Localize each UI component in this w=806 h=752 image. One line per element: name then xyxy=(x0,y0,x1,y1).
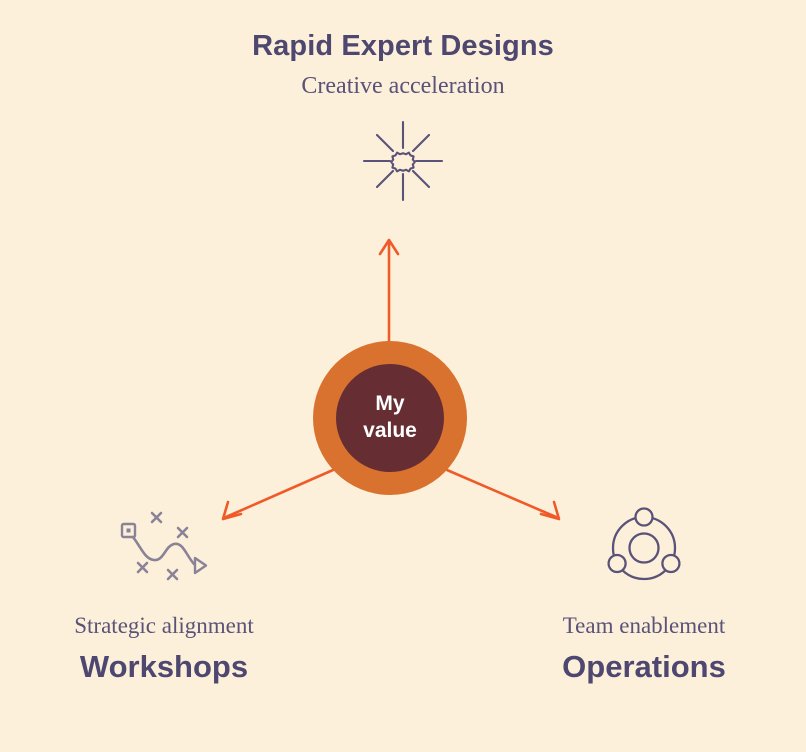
bottom-left-icon-wrap xyxy=(4,498,324,598)
diagram-canvas: Rapid Expert Designs Creative accelerati… xyxy=(0,0,806,752)
bottom-left-title: Workshops xyxy=(4,648,324,685)
bottom-left-subtitle: Strategic alignment xyxy=(4,612,324,640)
arrow-to-top xyxy=(380,240,398,348)
bottom-right-title: Operations xyxy=(484,648,804,685)
node-top[interactable]: Rapid Expert Designs Creative accelerati… xyxy=(0,30,806,205)
center-node[interactable]: My value xyxy=(313,341,467,495)
top-node-title: Rapid Expert Designs xyxy=(0,30,806,63)
center-node-label: My value xyxy=(363,391,417,445)
node-bottom-left[interactable]: Strategic alignment Workshops xyxy=(4,498,324,685)
top-node-icon-wrap xyxy=(0,117,806,205)
sparkle-burst-icon xyxy=(359,117,447,205)
center-inner-circle: My value xyxy=(336,364,444,472)
network-hub-icon xyxy=(602,506,686,590)
bottom-right-subtitle: Team enablement xyxy=(484,612,804,640)
top-node-subtitle: Creative acceleration xyxy=(0,73,806,101)
bottom-right-icon-wrap xyxy=(484,498,804,598)
winding-path-icon xyxy=(116,508,212,588)
node-bottom-right[interactable]: Team enablement Operations xyxy=(484,498,804,685)
